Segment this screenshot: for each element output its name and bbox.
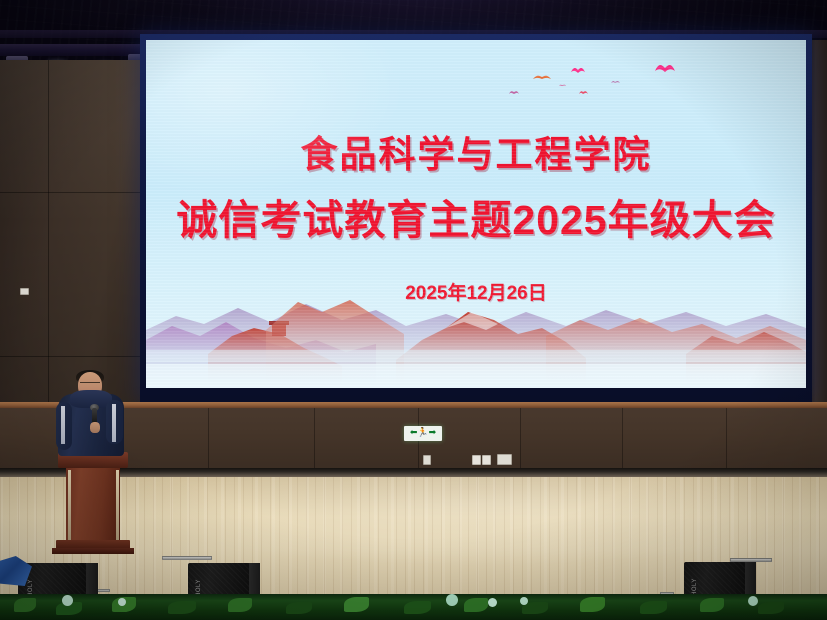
foliage-leaf <box>404 601 431 614</box>
stage-front-foliage <box>0 594 827 620</box>
led-screen-bezel: 食品科学与工程学院 诚信考试教育主题2025年级大会 2025年12月26日 <box>140 34 812 402</box>
foliage-leaf <box>580 597 605 612</box>
exit-sign-glyph: ⬅🏃➡ <box>410 429 436 438</box>
wall-socket-plate[interactable] <box>20 288 29 295</box>
foliage-leaf <box>228 598 252 612</box>
foliage-leaf <box>344 597 369 612</box>
wall-light-switch[interactable] <box>472 455 481 465</box>
lectern-trim-left <box>68 470 71 540</box>
foliage-leaf <box>758 602 784 614</box>
lectern-body <box>66 468 120 542</box>
wall-panel-seam <box>0 192 146 193</box>
flying-bird-icon <box>508 88 520 96</box>
flying-bird-icon <box>578 88 589 96</box>
presenter-sleeve-stripe-left <box>61 406 65 444</box>
wall-light-switch[interactable] <box>482 455 491 465</box>
stage-front-lip <box>0 468 827 477</box>
wall-panel-seam <box>314 408 315 468</box>
slide-title-line-1: 食品科学与工程学院 <box>146 124 806 178</box>
foliage-flower-bud <box>488 598 497 607</box>
presenter-sleeve-stripe-right <box>112 404 116 442</box>
wall-panel-seam <box>622 408 623 468</box>
floor-air-vent <box>162 556 212 560</box>
wall-socket-plate[interactable] <box>497 454 512 465</box>
lectern-trim-right <box>116 470 119 540</box>
led-screen[interactable]: 食品科学与工程学院 诚信考试教育主题2025年级大会 2025年12月26日 <box>146 40 806 388</box>
foliage-leaf <box>464 598 488 612</box>
wall-panel-seam <box>726 408 727 468</box>
foliage-flower-bud <box>446 594 458 606</box>
wall-panel-seam <box>0 356 146 357</box>
wall-socket-plate[interactable] <box>423 455 431 465</box>
foliage-leaf <box>286 602 312 614</box>
wall-panel-seam <box>520 408 521 468</box>
wall-panel-seam <box>208 408 209 468</box>
foliage-leaf <box>640 601 667 614</box>
flying-bird-icon <box>558 82 567 88</box>
slide-date: 2025年12月26日 <box>146 278 806 305</box>
flying-bird-icon <box>570 64 586 76</box>
presenter-hand <box>90 422 100 433</box>
auditorium-scene: 食品科学与工程学院 诚信考试教育主题2025年级大会 2025年12月26日 ⬅… <box>0 0 827 620</box>
flying-bird-icon <box>654 60 676 76</box>
slide-title-line-2: 诚信考试教育主题2025年级大会 <box>146 186 806 246</box>
foliage-leaf <box>14 598 36 612</box>
presenter <box>52 372 130 468</box>
foliage-leaf <box>700 598 724 612</box>
emergency-exit-sign: ⬅🏃➡ <box>404 426 442 441</box>
foliage-flower-bud <box>62 595 73 606</box>
foliage-flower-bud <box>520 597 528 605</box>
presenter-glasses <box>80 382 100 387</box>
flying-bird-icon <box>532 72 552 82</box>
lectern-base-plinth <box>52 548 134 554</box>
foliage-leaf <box>168 601 196 614</box>
foliage-flower-bud <box>118 598 126 606</box>
flying-bird-icon <box>610 78 621 85</box>
foliage-flower-bud <box>748 596 758 606</box>
